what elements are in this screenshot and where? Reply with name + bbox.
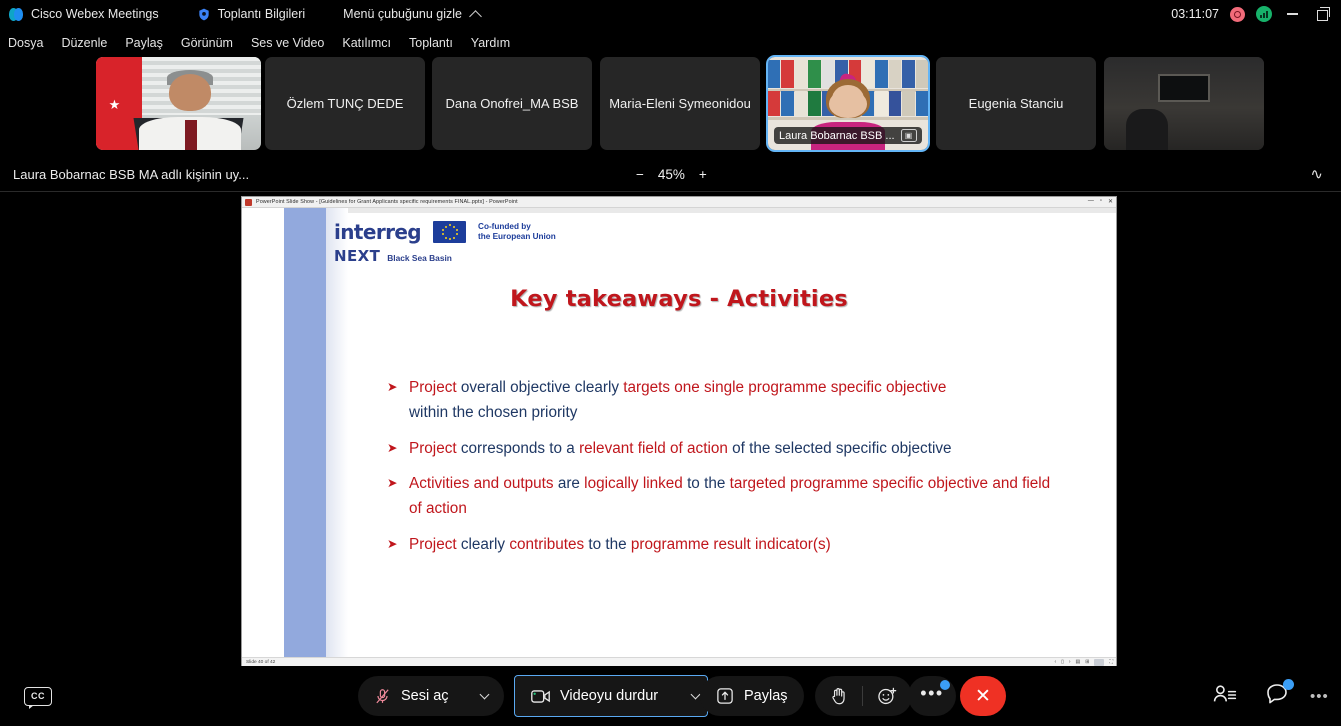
- participants-button[interactable]: [1212, 683, 1238, 710]
- participant-name-badge: Laura Bobarnac BSB ... ▣: [774, 127, 922, 144]
- zoom-controls: − 45% +: [636, 157, 707, 192]
- bullet-run: clearly: [461, 536, 509, 553]
- normal-view-button[interactable]: ▤: [1076, 659, 1081, 665]
- menu-item-dosya[interactable]: Dosya: [0, 36, 52, 50]
- menu-item-katilimci[interactable]: Katılımcı: [333, 36, 400, 50]
- closed-captions-icon: CC: [24, 687, 52, 706]
- menu-label: Paylaş: [125, 36, 163, 50]
- bullet-run: programme result indicator(s): [631, 536, 831, 553]
- title-bar: Cisco Webex Meetings Toplantı Bilgileri …: [0, 0, 1341, 28]
- reactions-smiley-icon[interactable]: [877, 686, 898, 706]
- menu-item-toplanti[interactable]: Toplantı: [400, 36, 462, 50]
- audio-options-chevron-down-icon[interactable]: [479, 689, 489, 699]
- slide-band-fade: [326, 208, 348, 657]
- participant-thumbnail-strip: Özlem TUNÇ DEDE Dana Onofrei_MA BSB Mari…: [0, 57, 1341, 151]
- bullet-run: to the: [588, 536, 631, 553]
- stop-video-button[interactable]: Videoyu durdur: [515, 676, 707, 716]
- hide-menubar-button[interactable]: Menü çubuğunu gizle: [343, 7, 480, 21]
- title-bar-right: 03:11:07: [1171, 0, 1333, 28]
- bullet-arrow-icon: ➤: [387, 534, 397, 554]
- annotate-pen-icon[interactable]: ∿: [1310, 165, 1323, 183]
- bullet-text: Project clearly contributes to the progr…: [409, 536, 831, 553]
- powerpoint-close-button[interactable]: ✕: [1108, 198, 1113, 205]
- menu-item-yardim[interactable]: Yardım: [462, 36, 519, 50]
- slide-bullet-3: ➤ Activities and outputs are logically l…: [387, 472, 1064, 522]
- menu-label: Ses ve Video: [251, 36, 324, 50]
- slide-sorter-button[interactable]: ⊞: [1085, 659, 1089, 665]
- participants-icon: [1212, 683, 1238, 705]
- participant-video-feed: [1104, 57, 1264, 150]
- chat-unread-badge: [1283, 679, 1294, 690]
- menu-label: Yardım: [471, 36, 510, 50]
- menu-label: Düzenle: [61, 36, 107, 50]
- bullet-run: contributes: [509, 536, 588, 553]
- reactions-group: [815, 676, 912, 716]
- bullet-run: corresponds to a: [461, 440, 579, 457]
- participant-tile-dana-onofrei[interactable]: Dana Onofrei_MA BSB: [432, 57, 592, 150]
- bullet-text: Activities and outputs are logically lin…: [409, 475, 1050, 517]
- participant-name: Eugenia Stanciu: [969, 96, 1064, 111]
- participant-name: Özlem TUNÇ DEDE: [287, 96, 404, 111]
- next-slide-button[interactable]: ›: [1069, 659, 1071, 665]
- slide-bullet-2: ➤ Project corresponds to a relevant fiel…: [387, 437, 1064, 462]
- eu-line-1: Co-funded by: [478, 222, 531, 231]
- camera-icon: [531, 689, 550, 704]
- participant-tile-eugenia-stanciu[interactable]: Eugenia Stanciu: [936, 57, 1096, 150]
- menu-label: Dosya: [8, 36, 43, 50]
- raise-hand-icon[interactable]: [829, 686, 848, 706]
- menu-item-paylas[interactable]: Paylaş: [116, 36, 172, 50]
- bullet-run: Project: [409, 379, 461, 396]
- meeting-clock: 03:11:07: [1171, 7, 1219, 21]
- eu-line-2: the European Union: [478, 232, 556, 241]
- powerpoint-app-icon: [245, 199, 252, 206]
- webex-meeting-window: Cisco Webex Meetings Toplantı Bilgileri …: [0, 0, 1341, 726]
- powerpoint-slide-area: interreg Co-funded by the European: [242, 208, 1116, 657]
- restore-window-button[interactable]: [1313, 7, 1333, 22]
- recording-indicator-icon[interactable]: [1230, 7, 1245, 22]
- bullet-arrow-icon: ➤: [387, 438, 397, 458]
- bullet-text: Project overall objective clearly target…: [409, 379, 946, 421]
- pin-video-icon[interactable]: ▣: [901, 129, 917, 142]
- slide-bullet-list: ➤ Project overall objective clearly targ…: [387, 376, 1064, 569]
- slide-thumb-button[interactable]: ▯: [1061, 659, 1064, 665]
- participant-tile-1[interactable]: [96, 57, 261, 150]
- mute-audio-label: Sesi aç: [401, 688, 449, 704]
- app-title: Cisco Webex Meetings: [31, 7, 159, 21]
- chevron-up-icon: [469, 10, 482, 23]
- slide-bullet-1: ➤ Project overall objective clearly targ…: [387, 376, 1064, 426]
- end-call-button[interactable]: ✕: [960, 676, 1006, 716]
- participant-name: Dana Onofrei_MA BSB: [446, 96, 579, 111]
- zoom-slider[interactable]: [1094, 659, 1104, 666]
- bullet-run: relevant field of action: [579, 440, 732, 457]
- right-more-options-button[interactable]: •••: [1310, 688, 1329, 705]
- bullet-run: of the selected specific objective: [732, 440, 951, 457]
- slide-left-margin: [242, 208, 284, 657]
- zoom-level-value: 45%: [658, 167, 685, 182]
- meeting-info-label: Toplantı Bilgileri: [218, 7, 306, 21]
- participant-name: Maria-Eleni Symeonidou: [609, 96, 751, 111]
- powerpoint-window-title: PowerPoint Slide Show - [Guidelines for …: [256, 199, 518, 205]
- interreg-logo: interreg Co-funded by the European: [334, 220, 556, 265]
- more-options-badge: [940, 680, 950, 690]
- interreg-wordmark: interreg: [334, 220, 421, 244]
- menu-item-duzenle[interactable]: Düzenle: [52, 36, 116, 50]
- menu-label: Toplantı: [409, 36, 453, 50]
- closed-captions-button[interactable]: CC: [24, 687, 52, 706]
- share-screen-icon: [716, 687, 734, 705]
- bullet-run: overall objective clearly: [461, 379, 623, 396]
- zoom-out-button[interactable]: −: [636, 167, 644, 182]
- bullet-run: to the: [687, 475, 730, 492]
- zoom-in-button[interactable]: +: [699, 167, 707, 182]
- region-label: Black Sea Basin: [387, 253, 452, 265]
- fit-slide-button[interactable]: ⛶: [1109, 659, 1113, 665]
- bullet-run: Project: [409, 440, 461, 457]
- meeting-control-bar: CC Sesi aç Videoyu durdur: [0, 666, 1341, 726]
- slide-bullet-4: ➤ Project clearly contributes to the pro…: [387, 533, 1064, 558]
- more-options-icon: •••: [1310, 688, 1329, 705]
- slide-canvas: interreg Co-funded by the European: [242, 208, 1116, 657]
- powerpoint-restore-button[interactable]: ▫: [1100, 198, 1102, 205]
- powerpoint-title-bar: PowerPoint Slide Show - [Guidelines for …: [242, 197, 1116, 208]
- menu-bar: Dosya Düzenle Paylaş Görünüm Ses ve Vide…: [0, 33, 1341, 53]
- chat-button[interactable]: [1265, 682, 1290, 710]
- control-divider: [862, 686, 863, 706]
- shield-icon: [197, 7, 211, 22]
- bullet-text: Project corresponds to a relevant field …: [409, 440, 952, 457]
- powerpoint-view-controls: ‹ ▯ › ▤ ⊞ ⛶: [1054, 659, 1113, 666]
- participant-tile-ozlem-tunc-dede[interactable]: Özlem TUNÇ DEDE: [265, 57, 425, 150]
- menu-label: Görünüm: [181, 36, 233, 50]
- bullet-run: targets one single programme specific ob…: [623, 379, 946, 396]
- bullet-run: logically linked: [584, 475, 687, 492]
- bullet-run: within the chosen priority: [409, 404, 577, 421]
- powerpoint-window-buttons: — ▫ ✕: [1088, 198, 1113, 205]
- eu-funding-text: Co-funded by the European Union: [478, 222, 556, 242]
- previous-slide-button[interactable]: ‹: [1054, 659, 1056, 665]
- minimize-button[interactable]: [1283, 7, 1302, 22]
- webex-logo-icon: [9, 7, 24, 22]
- slide-accent-band: [284, 208, 326, 657]
- participant-name: Laura Bobarnac BSB ...: [779, 130, 895, 142]
- participant-video-feed: [96, 57, 261, 150]
- bullet-arrow-icon: ➤: [387, 377, 397, 397]
- eu-flag-icon: [433, 221, 466, 243]
- microphone-muted-icon: [374, 687, 391, 706]
- share-content-button[interactable]: Paylaş: [700, 676, 804, 716]
- bullet-run: Activities and outputs: [409, 475, 558, 492]
- powerpoint-minimize-button[interactable]: —: [1088, 198, 1094, 205]
- more-options-button[interactable]: •••: [908, 676, 956, 716]
- hide-menubar-label: Menü çubuğunu gizle: [343, 7, 462, 21]
- powerpoint-status-bar: Slide 40 of 42 ‹ ▯ › ▤ ⊞ ⛶: [242, 657, 1116, 666]
- shared-powerpoint-window: PowerPoint Slide Show - [Guidelines for …: [241, 196, 1117, 666]
- menu-item-ses-ve-video[interactable]: Ses ve Video: [242, 36, 333, 50]
- meeting-info-button[interactable]: Toplantı Bilgileri: [197, 7, 306, 22]
- end-call-icon: ✕: [975, 685, 991, 708]
- bullet-run: Project: [409, 536, 461, 553]
- menu-item-gorunum[interactable]: Görünüm: [172, 36, 242, 50]
- share-status-label: Laura Bobarnac BSB MA adlı kişinin uy...: [13, 167, 249, 182]
- app-identity: Cisco Webex Meetings: [9, 7, 159, 22]
- participant-tile-laura-bobarnac[interactable]: Laura Bobarnac BSB ... ▣: [768, 57, 928, 150]
- slide-counter: Slide 40 of 42: [246, 660, 275, 665]
- bullet-run: are: [558, 475, 584, 492]
- network-signal-icon[interactable]: [1256, 6, 1272, 22]
- slide-title: Key takeaways - Activities: [242, 286, 1116, 312]
- share-status-bar: Laura Bobarnac BSB MA adlı kişinin uy...…: [0, 157, 1341, 192]
- share-content-label: Paylaş: [744, 688, 788, 704]
- next-wordmark: NEXT: [334, 247, 380, 265]
- participant-tile-7[interactable]: [1104, 57, 1264, 150]
- menu-label: Katılımcı: [342, 36, 391, 50]
- bullet-arrow-icon: ➤: [387, 473, 397, 493]
- participant-tile-maria-eleni-symeonidou[interactable]: Maria-Eleni Symeonidou: [600, 57, 760, 150]
- stop-video-label: Videoyu durdur: [560, 688, 658, 704]
- mute-audio-button[interactable]: Sesi aç: [358, 676, 504, 716]
